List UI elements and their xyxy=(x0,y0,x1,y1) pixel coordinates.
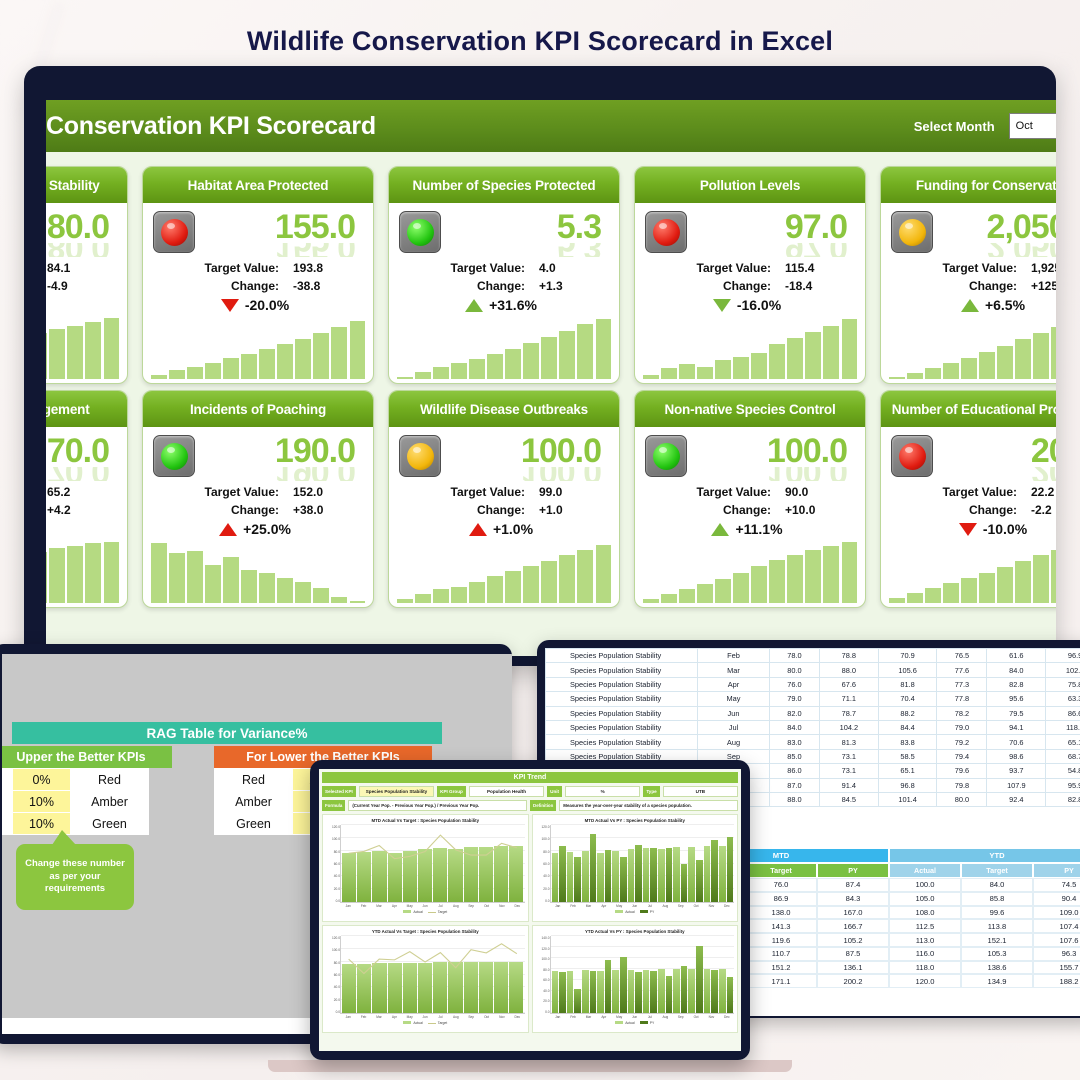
sparkline-bar xyxy=(943,583,959,603)
x-tick-label: Sep xyxy=(674,904,688,908)
kpi-metrics: Target Value: 84.1 Change: -4.9 -5.8% xyxy=(46,261,115,313)
kpi-variance-row: +31.6% xyxy=(399,297,603,313)
cell-rag-name: Green xyxy=(71,813,149,835)
kpi-sparkline xyxy=(397,541,611,603)
bar-actual xyxy=(479,847,493,902)
cell-value: 85.8 xyxy=(961,892,1033,906)
bar-actual xyxy=(688,847,695,902)
cell-value: 120.0 xyxy=(889,974,961,988)
arrow-up-icon xyxy=(465,299,483,312)
cell-month: Apr xyxy=(698,677,770,691)
arrow-up-icon xyxy=(711,523,729,536)
kpi-value-reflection: 97.0 xyxy=(687,243,847,257)
subheader-target: Target xyxy=(961,863,1033,878)
cell-value: 99.6 xyxy=(961,906,1033,920)
bar-actual xyxy=(704,846,711,902)
cell-value: 87.0 xyxy=(770,778,820,792)
rag-callout: Change these number as per your requirem… xyxy=(16,844,134,910)
rag-upper-table: 0% Red 10% Amber 10% Green xyxy=(2,768,149,835)
sparkline-bar xyxy=(661,368,677,379)
sparkline-bar xyxy=(979,573,995,603)
kpi-value-reflection: 100.0 xyxy=(687,467,847,481)
sparkline-bar xyxy=(523,566,539,603)
sparkline-bar xyxy=(715,360,731,379)
cell-value: 108.0 xyxy=(889,906,961,920)
kpi-card-title: Species Population Stability xyxy=(46,167,127,203)
chart-bars xyxy=(342,936,524,1013)
kpi-target-value: 99.0 xyxy=(539,485,603,499)
kpi-group-value: Population Health xyxy=(469,786,544,797)
kpi-target-label: Target Value: xyxy=(153,261,293,275)
kpi-card[interactable]: Community Engagement 70.0 70.0 Target Va… xyxy=(46,390,128,608)
kpi-target-value: 193.8 xyxy=(293,261,357,275)
x-tick-label: Nov xyxy=(704,904,718,908)
y-tick-label: 60.0 xyxy=(537,862,550,866)
cell-value: 188.2 xyxy=(1033,974,1080,988)
arrow-up-icon xyxy=(961,299,979,312)
cell-value: 82.8 xyxy=(987,677,1046,691)
kpi-sparkline xyxy=(46,317,119,379)
x-tick-label: Dec xyxy=(720,904,734,908)
kpi-card[interactable]: Funding for Conservation 2,050.0 2,050.0… xyxy=(880,166,1056,384)
kpi-metrics: Target Value: 152.0 Change: +38.0 +25.0% xyxy=(153,485,361,537)
arrow-down-icon xyxy=(959,523,977,536)
kpi-card[interactable]: Species Population Stability 80.0 80.0 T… xyxy=(46,166,128,384)
chart-title: MTD Actual Vs Target : Species Populatio… xyxy=(326,818,525,823)
kpi-variance-row: -20.0% xyxy=(153,297,357,313)
bar-actual xyxy=(643,848,650,902)
table-row: Species Population Stability Jun 82.0 78… xyxy=(546,706,1080,720)
sparkline-bar xyxy=(205,363,221,379)
table-row: Species Population Stability Aug 83.0 81… xyxy=(546,735,1080,749)
formula-value: (Current Year Pop. - Previous Year Pop.)… xyxy=(348,800,527,811)
cell-month: Aug xyxy=(698,735,770,749)
kpi-metrics: Target Value: 4.0 Change: +1.3 +31.6% xyxy=(399,261,607,313)
trend-chart: MTD Actual Vs PY : Species Population St… xyxy=(532,814,739,922)
bulb-icon xyxy=(161,443,188,470)
x-tick-label: Oct xyxy=(479,1015,493,1019)
bar-actual xyxy=(342,853,356,902)
bar-actual xyxy=(388,853,402,902)
y-tick-label: 120.0 xyxy=(327,825,340,829)
chart-legend: Actual Target xyxy=(326,1021,525,1025)
sparkline-bar xyxy=(805,332,821,379)
kpi-card[interactable]: Wildlife Disease Outbreaks 100.0 100.0 T… xyxy=(388,390,620,608)
kpi-sparkline xyxy=(46,541,119,603)
kpi-change-label: Change: xyxy=(891,279,1031,293)
bar-actual xyxy=(567,852,574,902)
kpi-card-body: 5.3 5.3 Target Value: 4.0 Change: +1.3 +… xyxy=(389,203,619,383)
subheader-py: PY xyxy=(817,863,889,878)
bar-actual xyxy=(582,851,589,902)
legend-actual: Actual xyxy=(615,1021,634,1025)
cell-value: 70.9 xyxy=(878,649,937,663)
kpi-target-row: Target Value: 22.2 xyxy=(891,485,1056,499)
sparkline-bar xyxy=(1051,327,1056,379)
dashboard-header: Conservation KPI Scorecard Select Month … xyxy=(46,100,1056,152)
header-controls: Select Month Oct ▼ MTD YTD Vs. Target xyxy=(914,113,1056,139)
kpi-trend-meta-row: Selected KPI Species Population Stabilit… xyxy=(322,786,738,797)
kpi-card[interactable]: Number of Educational Programs 20.0 20.0… xyxy=(880,390,1056,608)
kpi-change-label: Change: xyxy=(891,503,1031,517)
x-tick-label: Nov xyxy=(495,904,509,908)
cell-value: 102.1 xyxy=(1046,663,1080,677)
cell-threshold[interactable]: 10% xyxy=(13,791,71,813)
x-tick-label: Feb xyxy=(356,904,370,908)
cell-value: 113.0 xyxy=(889,933,961,947)
chart-bars xyxy=(552,825,734,902)
kpi-variance-value: +6.5% xyxy=(985,297,1025,313)
kpi-card-top: 97.0 97.0 xyxy=(645,211,853,257)
unit-value: % xyxy=(565,786,640,797)
cell-value: 84.3 xyxy=(817,892,889,906)
sparkline-bar xyxy=(541,337,557,379)
cell-kpi-name: Species Population Stability xyxy=(546,677,698,691)
y-tick-label: 120.0 xyxy=(537,947,550,951)
sparkline-bar xyxy=(49,329,65,379)
y-tick-label: 120.0 xyxy=(327,936,340,940)
x-tick-label: Oct xyxy=(689,1015,703,1019)
kpi-card[interactable]: Pollution Levels 97.0 97.0 Target Value:… xyxy=(634,166,866,384)
x-tick-label: Jul xyxy=(433,904,447,908)
kpi-row: Community Engagement 70.0 70.0 Target Va… xyxy=(46,384,1056,608)
cell-value: 77.3 xyxy=(937,677,987,691)
kpi-card-top: 100.0 100.0 xyxy=(645,435,853,481)
kpi-target-row: Target Value: 65.2 xyxy=(46,485,111,499)
cell-blank xyxy=(2,813,13,835)
kpi-change-row: Change: +4.2 xyxy=(46,503,111,517)
x-tick-label: Feb xyxy=(566,904,580,908)
cell-rag-name: Red xyxy=(215,769,293,791)
kpi-target-label: Target Value: xyxy=(891,261,1031,275)
kpi-target-label: Target Value: xyxy=(645,485,785,499)
bar-actual xyxy=(552,971,559,1013)
cell-value: 84.0 xyxy=(770,720,820,734)
cell-value: 73.1 xyxy=(819,749,878,763)
cell-rag-name: Green xyxy=(215,813,293,835)
chart-bars xyxy=(552,936,734,1013)
cell-value: 107.4 xyxy=(1033,919,1080,933)
cell-value: 118.0 xyxy=(889,961,961,975)
sparkline-bar xyxy=(1033,333,1049,379)
sparkline-bar xyxy=(769,344,785,379)
dashboard-title: Conservation KPI Scorecard xyxy=(46,112,376,141)
selected-kpi-value[interactable]: Species Population Stability xyxy=(359,786,434,797)
sparkline-bar xyxy=(151,543,167,603)
cell-value: 96.8 xyxy=(878,778,937,792)
sparkline-bar xyxy=(187,551,203,603)
kpi-card-body: 80.0 80.0 Target Value: 84.1 Change: -4.… xyxy=(46,203,127,383)
kpi-sparkline xyxy=(643,541,857,603)
cell-value: 79.8 xyxy=(937,778,987,792)
x-tick-label: May xyxy=(612,1015,626,1019)
cell-month: May xyxy=(698,692,770,706)
kpi-card-body: 2,050.0 2,050.0 Target Value: 1,925.0 Ch… xyxy=(881,203,1056,383)
bar-actual xyxy=(673,847,680,902)
sparkline-bar xyxy=(1015,339,1031,379)
kpi-value: 2,050.0 2,050.0 xyxy=(933,211,1056,257)
bar-actual xyxy=(448,849,462,902)
kpi-card-top: 5.3 5.3 xyxy=(399,211,607,257)
cell-value: 65.1 xyxy=(1046,735,1080,749)
sparkline-bar xyxy=(259,573,275,603)
kpi-change-value: +10.0 xyxy=(785,503,849,517)
bar-actual xyxy=(433,962,447,1013)
bar-actual xyxy=(509,962,523,1013)
sparkline-bar xyxy=(415,594,431,603)
sparkline-bar xyxy=(842,319,858,379)
cell-value: 141.3 xyxy=(745,919,817,933)
bar-actual xyxy=(719,969,726,1013)
cell-value: 86.0 xyxy=(770,764,820,778)
sparkline-bar xyxy=(979,352,995,379)
kpi-group-label: KPI Group xyxy=(437,786,466,797)
cell-value: 105.2 xyxy=(817,933,889,947)
bar-actual xyxy=(464,962,478,1013)
cell-blank xyxy=(2,769,13,791)
sparkline-bar xyxy=(49,548,65,603)
legend-target: Target xyxy=(428,910,447,914)
table-row: Species Population Stability Feb 78.0 78… xyxy=(546,649,1080,663)
kpi-metrics: Target Value: 90.0 Change: +10.0 +11.1% xyxy=(645,485,853,537)
cell-value: 93.7 xyxy=(987,764,1046,778)
cell-value: 105.6 xyxy=(878,663,937,677)
kpi-card[interactable]: Non-native Species Control 100.0 100.0 T… xyxy=(634,390,866,608)
kpi-value-reflection: 100.0 xyxy=(441,467,601,481)
bar-comparison xyxy=(635,972,642,1013)
kpi-sparkline xyxy=(889,317,1056,379)
cell-value: 76.0 xyxy=(770,677,820,691)
laptop-main-device: Conservation KPI Scorecard Select Month … xyxy=(24,66,1056,666)
bar-actual xyxy=(448,962,462,1013)
month-dropdown[interactable]: Oct ▼ xyxy=(1009,113,1056,139)
kpi-change-row: Change: +10.0 xyxy=(645,503,849,517)
bar-actual xyxy=(479,962,493,1013)
x-axis: JanFebMarAprMayJunJulAugSepOctNovDec xyxy=(551,1015,735,1019)
bar-actual xyxy=(658,969,665,1013)
subheader-actual: Actual xyxy=(889,863,961,878)
chart-plot-area: 120.0100.080.060.040.020.00.0 xyxy=(340,936,525,1014)
cell-value: 79.0 xyxy=(937,720,987,734)
cell-month: Jun xyxy=(698,706,770,720)
sparkline-bar xyxy=(1051,550,1056,603)
chart-title: YTD Actual Vs PY : Species Population St… xyxy=(536,929,735,934)
kpi-metrics: Target Value: 115.4 Change: -18.4 -16.0% xyxy=(645,261,853,313)
sparkline-bar xyxy=(85,543,101,603)
x-tick-label: Jun xyxy=(418,1015,432,1019)
bar-actual xyxy=(494,962,508,1013)
cell-threshold[interactable]: 0% xyxy=(13,769,71,791)
y-tick-label: 100.0 xyxy=(537,957,550,961)
cell-value: 166.7 xyxy=(817,919,889,933)
bar-comparison xyxy=(605,850,612,902)
sparkline-bar xyxy=(643,599,659,603)
sparkline-bar xyxy=(787,555,803,603)
kpi-target-row: Target Value: 152.0 xyxy=(153,485,357,499)
kpi-trend-title: KPI Trend xyxy=(322,772,738,783)
kpi-card[interactable]: Habitat Area Protected 155.0 155.0 Targe… xyxy=(142,166,374,384)
table-row: Species Population Stability Jul 84.0 10… xyxy=(546,720,1080,734)
kpi-value-reflection: 20.0 xyxy=(933,467,1056,481)
cell-kpi-name: Species Population Stability xyxy=(546,649,698,663)
cell-value: 54.8 xyxy=(1046,764,1080,778)
cell-value: 84.4 xyxy=(878,720,937,734)
sparkline-bar xyxy=(104,318,120,379)
y-tick-label: 40.0 xyxy=(327,874,340,878)
y-tick-label: 20.0 xyxy=(537,999,550,1003)
kpi-value: 100.0 100.0 xyxy=(687,435,853,481)
kpi-variance-row: +6.5% xyxy=(891,297,1056,313)
cell-value: 78.7 xyxy=(819,706,878,720)
table-row: Species Population Stability Apr 76.0 67… xyxy=(546,677,1080,691)
sparkline-bar xyxy=(577,550,593,603)
kpi-change-row: Change: +1.0 xyxy=(399,503,603,517)
status-light-green-icon xyxy=(399,211,441,253)
chart-title: MTD Actual Vs PY : Species Population St… xyxy=(536,818,735,823)
sparkline-bar xyxy=(661,594,677,603)
laptop-trend-base xyxy=(268,1060,792,1072)
x-axis: JanFebMarAprMayJunJulAugSepOctNovDec xyxy=(341,904,525,908)
kpi-card-top: 80.0 80.0 xyxy=(46,211,115,257)
sparkline-bar xyxy=(787,338,803,379)
bar-comparison xyxy=(711,840,718,902)
cell-value: 78.0 xyxy=(770,649,820,663)
bulb-icon xyxy=(653,443,680,470)
kpi-variance-row: +1.0% xyxy=(399,521,603,537)
kpi-card-body: 190.0 190.0 Target Value: 152.0 Change: … xyxy=(143,427,373,607)
select-month-label: Select Month xyxy=(914,119,995,134)
sparkline-bar xyxy=(313,333,329,379)
sparkline-bar xyxy=(46,552,47,603)
kpi-metrics: Target Value: 99.0 Change: +1.0 +1.0% xyxy=(399,485,607,537)
y-tick-label: 120.0 xyxy=(537,825,550,829)
y-tick-label: 40.0 xyxy=(537,874,550,878)
chart-plot-area: 140.0120.0100.080.060.040.020.00.0 xyxy=(550,936,735,1014)
kpi-variance-value: +1.0% xyxy=(493,521,533,537)
kpi-grid: Species Population Stability 80.0 80.0 T… xyxy=(46,152,1056,608)
bulb-icon xyxy=(407,443,434,470)
cell-value: 91.4 xyxy=(819,778,878,792)
bar-actual xyxy=(342,964,356,1013)
kpi-row: Species Population Stability 80.0 80.0 T… xyxy=(46,160,1056,384)
cell-month: Feb xyxy=(698,649,770,663)
bar-comparison xyxy=(559,972,566,1013)
status-light-red-icon xyxy=(645,211,687,253)
cell-value: 79.4 xyxy=(937,749,987,763)
sparkline-bar xyxy=(961,578,977,603)
legend-actual: Actual xyxy=(615,910,634,914)
sparkline-bar xyxy=(397,377,413,379)
cell-value: 105.0 xyxy=(889,892,961,906)
sparkline-bar xyxy=(151,375,167,379)
chart-legend: Actual PY xyxy=(536,1021,735,1025)
kpi-card-title: Funding for Conservation xyxy=(881,167,1056,203)
bar-comparison xyxy=(711,970,718,1013)
kpi-value: 70.0 70.0 xyxy=(46,435,115,481)
formula-label: Formula xyxy=(322,800,345,811)
kpi-change-value: +38.0 xyxy=(293,503,357,517)
sparkline-bar xyxy=(313,588,329,603)
trend-chart: YTD Actual Vs PY : Species Population St… xyxy=(532,925,739,1033)
cell-rag-name: Red xyxy=(71,769,149,791)
sparkline-bar xyxy=(169,370,185,379)
bar-comparison xyxy=(620,857,627,902)
sparkline-bar xyxy=(961,358,977,379)
cell-value: 84.5 xyxy=(819,792,878,806)
status-light-green-icon xyxy=(645,435,687,477)
sparkline-bar xyxy=(715,579,731,603)
cell-value: 76.5 xyxy=(937,649,987,663)
cell-value: 171.1 xyxy=(745,974,817,988)
kpi-change-label: Change: xyxy=(153,503,293,517)
kpi-change-row: Change: -4.9 xyxy=(46,279,111,293)
cell-rag-name: Amber xyxy=(215,791,293,813)
sparkline-bar xyxy=(925,588,941,603)
kpi-trend-charts: MTD Actual Vs Target : Species Populatio… xyxy=(322,814,738,1033)
trend-chart: YTD Actual Vs Target : Species Populatio… xyxy=(322,925,529,1033)
kpi-card-title: Non-native Species Control xyxy=(635,391,865,427)
sparkline-bar xyxy=(907,373,923,379)
cell-value: 83.0 xyxy=(770,735,820,749)
x-tick-label: Aug xyxy=(658,1015,672,1019)
bar-comparison xyxy=(590,834,597,902)
kpi-value-reflection: 80.0 xyxy=(46,243,109,257)
bar-actual xyxy=(643,970,650,1013)
x-tick-label: Feb xyxy=(356,1015,370,1019)
y-tick-label: 80.0 xyxy=(327,850,340,854)
kpi-sparkline xyxy=(151,541,365,603)
sparkline-bar xyxy=(559,555,575,603)
sparkline-bar xyxy=(541,561,557,603)
status-light-red-icon xyxy=(891,435,933,477)
kpi-target-label: Target Value: xyxy=(153,485,293,499)
sparkline-bar xyxy=(223,358,239,379)
trend-chart: MTD Actual Vs Target : Species Populatio… xyxy=(322,814,529,922)
rag-table-title: RAG Table for Variance% xyxy=(12,722,442,744)
y-tick-label: 20.0 xyxy=(327,887,340,891)
chart-legend: Actual Target xyxy=(326,910,525,914)
x-tick-label: Sep xyxy=(464,904,478,908)
sparkline-bar xyxy=(679,589,695,603)
subheader-target: Target xyxy=(745,863,817,878)
sparkline-bar xyxy=(679,364,695,379)
kpi-variance-row: +25.0% xyxy=(153,521,357,537)
sparkline-bar xyxy=(415,372,431,379)
cell-value: 96.9 xyxy=(1046,649,1080,663)
type-label: Type xyxy=(643,786,659,797)
y-tick-label: 60.0 xyxy=(327,862,340,866)
x-tick-label: Mar xyxy=(372,1015,386,1019)
sparkline-bar xyxy=(295,339,311,379)
kpi-card[interactable]: Number of Species Protected 5.3 5.3 Targ… xyxy=(388,166,620,384)
y-tick-label: 80.0 xyxy=(537,850,550,854)
cell-kpi-name: Species Population Stability xyxy=(546,735,698,749)
bar-actual xyxy=(418,849,432,902)
bar-actual xyxy=(494,846,508,902)
bar-actual xyxy=(612,851,619,902)
sparkline-bar xyxy=(241,570,257,603)
kpi-target-value: 90.0 xyxy=(785,485,849,499)
sparkline-bar xyxy=(169,553,185,603)
bar-comparison xyxy=(574,989,581,1013)
cell-value: 90.4 xyxy=(1033,892,1080,906)
bar-actual xyxy=(552,853,559,902)
sparkline-bar xyxy=(559,331,575,379)
x-tick-label: Oct xyxy=(479,904,493,908)
kpi-target-row: Target Value: 90.0 xyxy=(645,485,849,499)
kpi-variance-value: +25.0% xyxy=(243,521,291,537)
kpi-card[interactable]: Incidents of Poaching 190.0 190.0 Target… xyxy=(142,390,374,608)
